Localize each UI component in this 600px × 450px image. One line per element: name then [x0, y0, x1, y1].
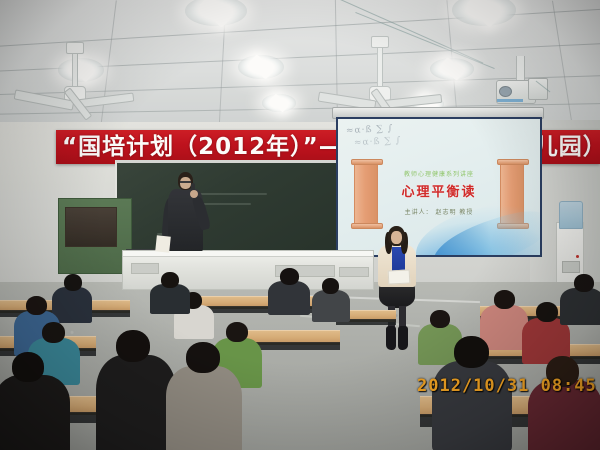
attendee-far-right-back-head: [574, 274, 594, 292]
attendee-patterned-coat-torso: [166, 366, 242, 450]
screen-handwriting: ≈α·ß ∑ ∫: [346, 124, 394, 136]
boot-right: [398, 326, 408, 350]
presenter-papers: [388, 269, 411, 284]
attendee-patterned-coat-head: [186, 342, 220, 373]
attendee-right-pink-head: [494, 290, 515, 309]
attendee-front-left-dark-torso: [0, 375, 70, 450]
boot-left: [386, 326, 396, 350]
ceiling-lamp-4: [430, 58, 474, 80]
attendee-mid-black-bag-head: [116, 330, 150, 362]
podium-top-edge: [123, 251, 373, 257]
attendee-checkered-coat-torso: [432, 361, 512, 450]
projection-screen: ≈α·ß ∑ ∫ ≈α·ß ∑ ∫ 教师心理健康系列讲座 心理平衡读 主讲人： …: [336, 117, 542, 257]
ceiling-lamp-5: [262, 94, 296, 112]
attendee-patterned-coat: [166, 342, 242, 450]
cabinet-open-shelf: [65, 207, 117, 247]
classroom-photo: “国培计划（2012年）”—四川省中小学（幼儿园）学科带头人 ≈α·ß ∑ ∫ …: [0, 0, 600, 450]
attendee-far-right-back-torso: [560, 288, 600, 325]
slide-subtitle: 教师心理健康系列讲座: [338, 169, 540, 178]
slide-title: 心理平衡读: [338, 181, 540, 200]
attendee-back-center-dark-torso: [150, 284, 190, 314]
attendee-back-left-navy-head: [64, 274, 82, 291]
ceiling-lamp-3: [238, 55, 284, 79]
attendee-mid-black-bag-torso: [96, 355, 176, 450]
water-bottle: [559, 201, 583, 229]
attendee-back-right-coat-head: [280, 268, 299, 285]
attendee-right-green-head: [430, 310, 450, 328]
attendee-front-left-dark-head: [12, 352, 44, 382]
attendee-back-center-dark-head: [161, 272, 179, 288]
attendee-checkered-coat-head: [454, 336, 489, 368]
podium-panel-3: [339, 267, 369, 277]
camera-timestamp: 2012/10/31 08:45: [417, 376, 597, 396]
attendee-right-red-head: [536, 302, 558, 322]
attendee-back-center-dark: [150, 272, 190, 312]
attendee-back-right-coat-torso: [268, 281, 310, 315]
attendee-mid-green-head: [226, 322, 248, 342]
water-indicator-light: [576, 255, 579, 258]
eyeglasses: [180, 181, 191, 183]
ceiling-lamp-7: [58, 58, 104, 82]
blackboard: [115, 160, 359, 261]
attendee-right-gray-torso: [312, 290, 350, 322]
attendee-back-right-coat: [268, 268, 310, 312]
attendee-mid-black-bag: [96, 330, 176, 450]
attendee-right-gray: [312, 278, 350, 320]
screen-handwriting-2: ≈α·ß ∑ ∫: [354, 136, 402, 148]
green-wall-cabinet: [58, 198, 132, 274]
attendee-right-gray-head: [322, 278, 339, 294]
attendee-left-teal-head: [42, 322, 65, 343]
attendee-left-blue-head: [26, 296, 47, 315]
attendee-front-left-dark: [0, 352, 70, 450]
attendee-far-right-back: [560, 274, 600, 322]
speaker-papers: [155, 235, 171, 252]
water-tap: [562, 261, 580, 273]
attendee-front-right-hair: [528, 356, 600, 450]
